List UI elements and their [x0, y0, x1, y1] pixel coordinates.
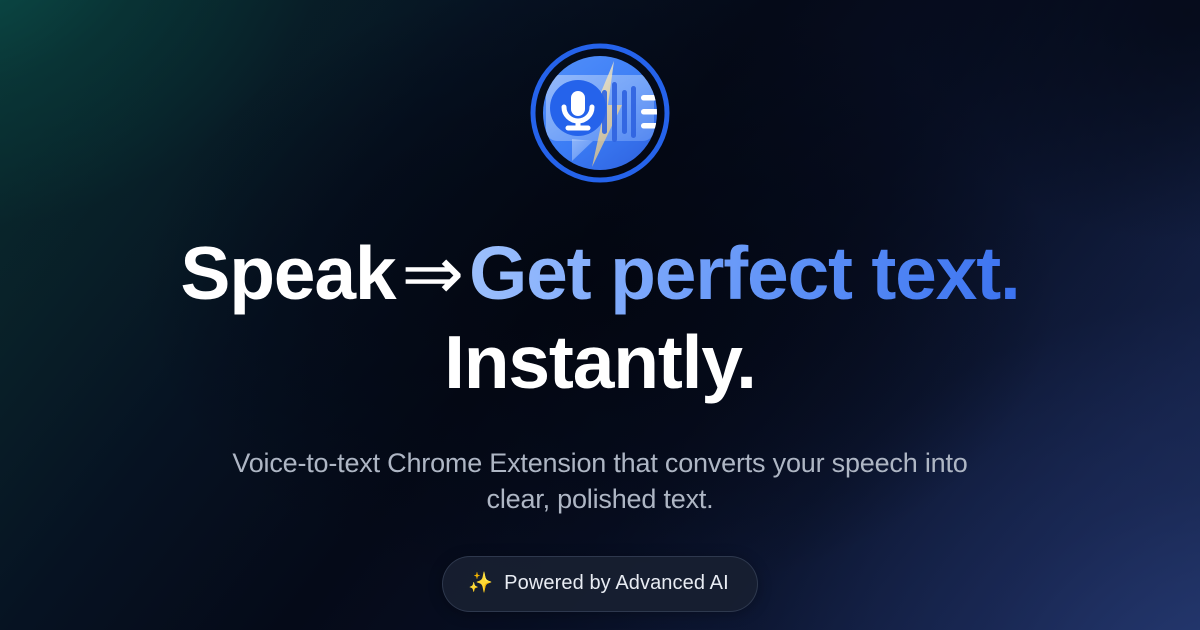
headline-speak: Speak	[180, 231, 395, 315]
sparkles-icon: ✨	[468, 573, 493, 593]
headline-line-2: Instantly.	[0, 318, 1200, 407]
powered-by-badge-label: Powered by Advanced AI	[504, 572, 729, 595]
double-arrow-icon: ⇒	[395, 231, 469, 315]
powered-by-badge: ✨ Powered by Advanced AI	[442, 556, 757, 612]
headline-accent: Get perfect text.	[469, 231, 1020, 315]
app-logo	[530, 43, 670, 183]
headline-line-1: Speak⇒Get perfect text.	[0, 229, 1200, 318]
voice-to-text-logo-icon	[530, 43, 670, 183]
hero-banner: Speak⇒Get perfect text. Instantly. Voice…	[0, 0, 1200, 630]
hero-subtitle: Voice-to-text Chrome Extension that conv…	[220, 446, 980, 518]
text-lines	[641, 95, 667, 129]
page-title: Speak⇒Get perfect text. Instantly.	[0, 229, 1200, 406]
